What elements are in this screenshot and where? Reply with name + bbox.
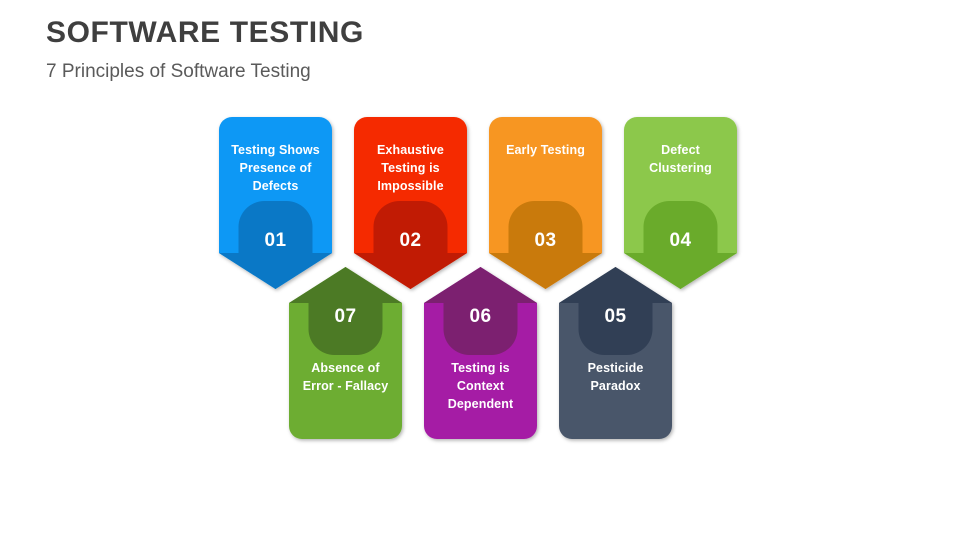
principle-pin-05[interactable]: 05PesticideParadox — [553, 267, 678, 439]
slide-canvas: SOFTWARE TESTING 7 Principles of Softwar… — [0, 0, 960, 540]
principle-pin-04[interactable]: 04DefectClustering — [618, 117, 743, 289]
pin-shape-02 — [348, 117, 473, 289]
pin-shape-03 — [483, 117, 608, 289]
principle-pin-01[interactable]: 01Testing ShowsPresence ofDefects — [213, 117, 338, 289]
principles-pin-diagram: 01Testing ShowsPresence ofDefects02Exhau… — [0, 0, 960, 540]
principle-pin-02[interactable]: 02ExhaustiveTesting isImpossible — [348, 117, 473, 289]
pin-shape-07 — [283, 267, 408, 439]
pin-shape-05 — [553, 267, 678, 439]
principle-pin-03[interactable]: 03Early Testing — [483, 117, 608, 289]
pin-shape-06 — [418, 267, 543, 439]
principle-pin-07[interactable]: 07Absence ofError - Fallacy — [283, 267, 408, 439]
principle-pin-06[interactable]: 06Testing isContextDependent — [418, 267, 543, 439]
pin-shape-04 — [618, 117, 743, 289]
pin-shape-01 — [213, 117, 338, 289]
